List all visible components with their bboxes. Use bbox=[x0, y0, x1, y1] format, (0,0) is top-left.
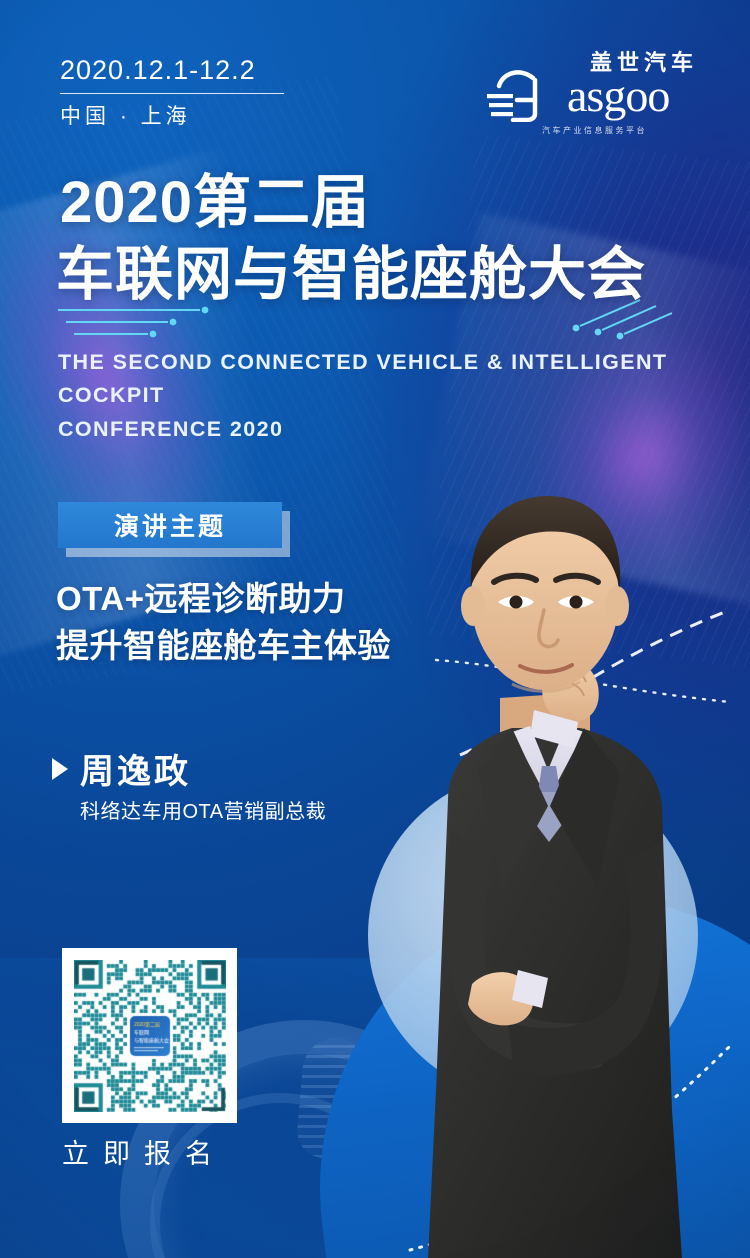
topic-title-line2: 提升智能座舱车主体验 bbox=[56, 623, 391, 670]
conference-poster: 2020.12.1-12.2 中国 · 上海 盖世汽车 asgoo 汽车产业信息… bbox=[0, 0, 750, 1258]
topic-badge-wrapper: 演讲主题 bbox=[58, 502, 282, 548]
topic-badge: 演讲主题 bbox=[58, 502, 282, 548]
conference-title-line2: 车联网与智能座舱大会 bbox=[56, 245, 646, 306]
speaker-photo bbox=[352, 470, 750, 1258]
tech-lines-left-icon bbox=[52, 300, 262, 352]
logo-tagline: 汽车产业信息服务平台 bbox=[487, 125, 702, 136]
topic-badge-label: 演讲主题 bbox=[114, 507, 226, 543]
conference-subtitle: THE SECOND CONNECTED VEHICLE & INTELLIGE… bbox=[58, 346, 718, 446]
event-location: 中国 · 上海 bbox=[60, 100, 284, 130]
event-date-block: 2020.12.1-12.2 中国 · 上海 bbox=[60, 56, 284, 130]
triangle-bullet-icon bbox=[52, 758, 68, 780]
logo-wordmark: asgoo bbox=[487, 70, 702, 122]
conference-subtitle-line1: THE SECOND CONNECTED VEHICLE & INTELLIGE… bbox=[58, 346, 718, 413]
conference-subtitle-line2: CONFERENCE 2020 bbox=[58, 413, 718, 446]
speaker-name: 周逸政 bbox=[80, 744, 191, 793]
register-cta-label: 立即报名 bbox=[62, 1132, 226, 1171]
speaker-title: 科络达车用OTA营销副总裁 bbox=[80, 795, 326, 824]
qr-code-image[interactable] bbox=[74, 960, 226, 1112]
speaker-name-row: 周逸政 bbox=[52, 744, 191, 793]
date-divider bbox=[60, 93, 284, 94]
conference-title-line1: 2020第二届 bbox=[60, 173, 370, 234]
event-date: 2020.12.1-12.2 bbox=[60, 56, 284, 86]
gasgoo-g-icon bbox=[487, 70, 565, 122]
gasgoo-logo: 盖世汽车 asgoo 汽车产业信息服务平台 bbox=[487, 52, 702, 136]
topic-title: OTA+远程诊断助力 提升智能座舱车主体验 bbox=[56, 576, 391, 670]
qr-code-card[interactable] bbox=[62, 948, 237, 1123]
topic-title-line1: OTA+远程诊断助力 bbox=[56, 576, 391, 623]
logo-wordmark-text: asgoo bbox=[567, 73, 669, 119]
